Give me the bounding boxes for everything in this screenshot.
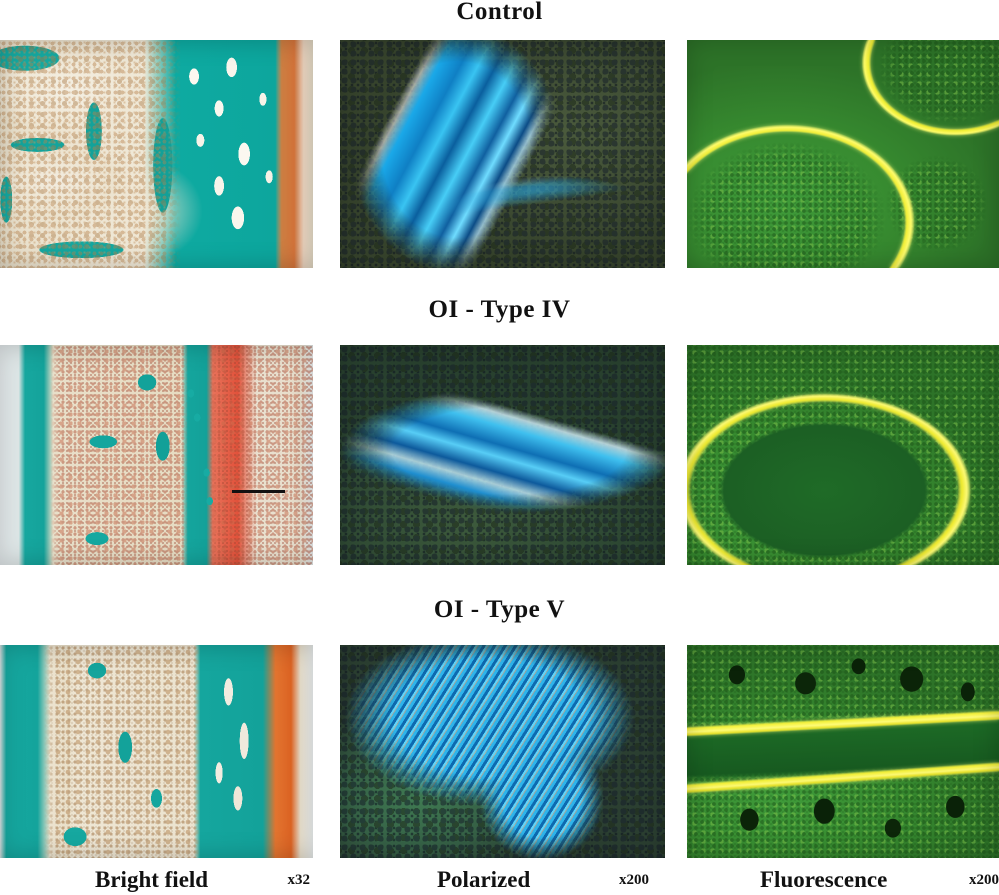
figure-panel-grid: Control OI - Type IV: [0, 0, 999, 895]
panel-vignette: [0, 345, 313, 565]
caption-label: Bright field: [95, 867, 208, 893]
caption-polarized: Polarized x200: [437, 866, 649, 894]
panel-vignette: [340, 345, 665, 565]
caption-label: Polarized: [437, 867, 530, 893]
panel-vignette: [0, 645, 313, 858]
panel-control-polarized[interactable]: [340, 40, 665, 268]
caption-label: Fluorescence: [760, 867, 887, 893]
caption-bright-field: Bright field x32: [95, 866, 310, 894]
row-heading-control: Control: [0, 0, 999, 26]
panel-type4-polarized[interactable]: [340, 345, 665, 565]
row-heading-oi-type-iv: OI - Type IV: [0, 296, 999, 324]
panel-type5-fluorescence[interactable]: [687, 645, 999, 858]
row-heading-oi-type-v: OI - Type V: [0, 596, 999, 624]
panel-type5-brightfield[interactable]: [0, 645, 313, 858]
panel-vignette: [687, 345, 999, 565]
panel-control-brightfield[interactable]: [0, 40, 313, 268]
panel-vignette: [340, 40, 665, 268]
panel-vignette: [340, 645, 665, 858]
panel-type5-polarized[interactable]: [340, 645, 665, 858]
panel-type4-brightfield[interactable]: [0, 345, 313, 565]
magnification-label: x200: [969, 872, 999, 889]
magnification-label: x32: [288, 872, 311, 889]
panel-vignette: [0, 40, 313, 268]
magnification-label: x200: [619, 872, 649, 889]
panel-control-fluorescence[interactable]: [687, 40, 999, 268]
panel-vignette: [687, 40, 999, 268]
panel-type4-fluorescence[interactable]: [687, 345, 999, 565]
panel-vignette: [687, 645, 999, 858]
caption-fluorescence: Fluorescence x200: [760, 866, 999, 894]
